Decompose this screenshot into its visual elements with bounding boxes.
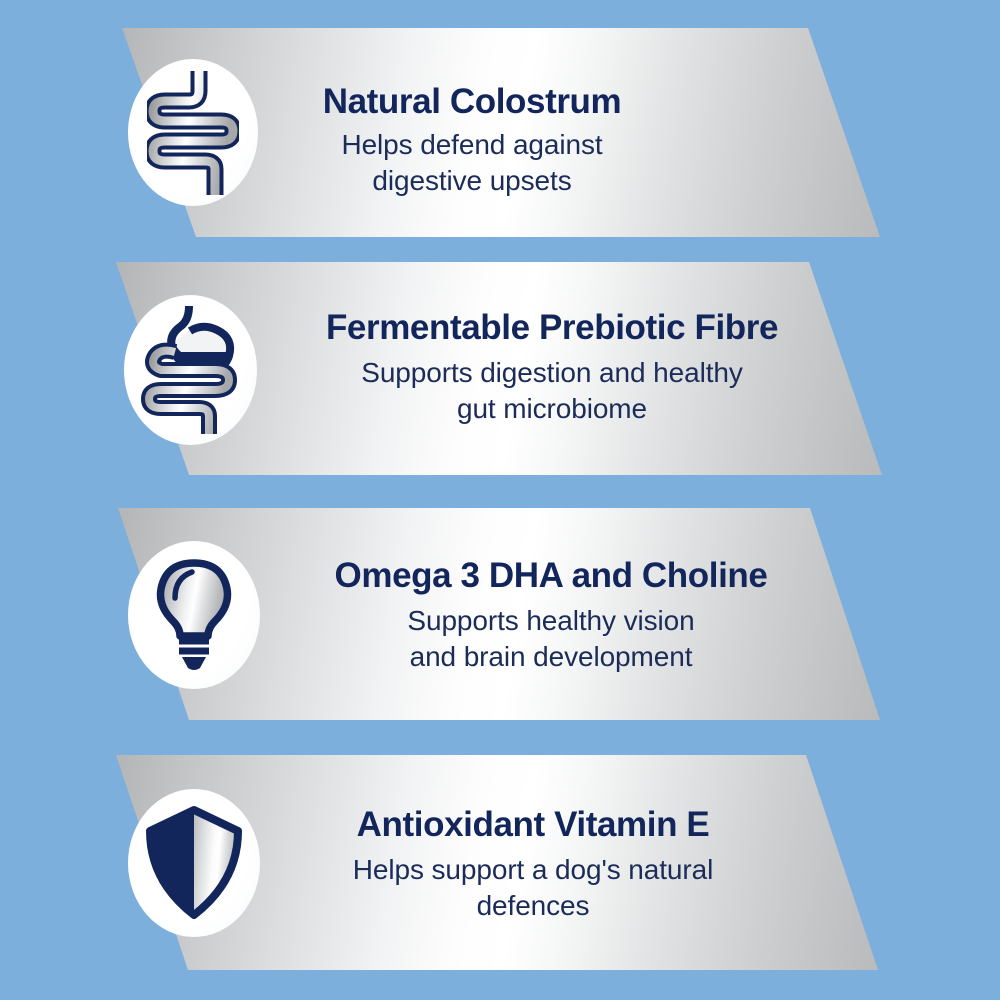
benefits-infographic: Natural Colostrum Helps defend against d… bbox=[0, 0, 1000, 1000]
description-line: digestive upsets bbox=[272, 163, 672, 199]
benefit-description: Supports healthy vision and brain develo… bbox=[266, 603, 836, 676]
description-line: Helps defend against bbox=[272, 127, 672, 163]
benefit-text-4: Antioxidant Vitamin E Helps support a do… bbox=[268, 807, 798, 924]
badge-lightbulb bbox=[128, 541, 260, 689]
stomach-icon bbox=[141, 304, 241, 436]
benefit-heading: Natural Colostrum bbox=[272, 84, 672, 120]
description-line: Supports healthy vision bbox=[266, 603, 836, 639]
badge-shield bbox=[128, 789, 260, 937]
lightbulb-icon bbox=[150, 556, 238, 674]
benefit-description: Helps support a dog's natural defences bbox=[268, 852, 798, 925]
description-line: defences bbox=[268, 888, 798, 924]
benefit-description: Helps defend against digestive upsets bbox=[272, 127, 672, 200]
benefit-heading: Antioxidant Vitamin E bbox=[268, 807, 798, 843]
description-line: and brain development bbox=[266, 639, 836, 675]
description-line: Supports digestion and healthy bbox=[262, 355, 842, 391]
benefit-banner-vitamin-e: Antioxidant Vitamin E Helps support a do… bbox=[0, 755, 1000, 970]
badge-stomach bbox=[124, 295, 257, 445]
benefit-banner-colostrum: Natural Colostrum Helps defend against d… bbox=[0, 28, 1000, 237]
benefit-banner-prebiotic-fibre: Fermentable Prebiotic Fibre Supports dig… bbox=[0, 262, 1000, 475]
benefit-heading: Omega 3 DHA and Choline bbox=[266, 558, 836, 594]
description-line: gut microbiome bbox=[262, 391, 842, 427]
benefit-text-3: Omega 3 DHA and Choline Supports healthy… bbox=[266, 558, 836, 675]
benefit-heading: Fermentable Prebiotic Fibre bbox=[262, 310, 842, 346]
benefit-text-1: Natural Colostrum Helps defend against d… bbox=[272, 84, 672, 199]
description-line: Helps support a dog's natural bbox=[268, 852, 798, 888]
benefit-text-2: Fermentable Prebiotic Fibre Supports dig… bbox=[262, 310, 842, 427]
benefit-description: Supports digestion and healthy gut micro… bbox=[262, 355, 842, 428]
shield-icon bbox=[145, 805, 243, 921]
badge-intestine bbox=[128, 59, 258, 206]
benefit-banner-omega3: Omega 3 DHA and Choline Supports healthy… bbox=[0, 508, 1000, 720]
intestine-icon bbox=[147, 69, 239, 197]
